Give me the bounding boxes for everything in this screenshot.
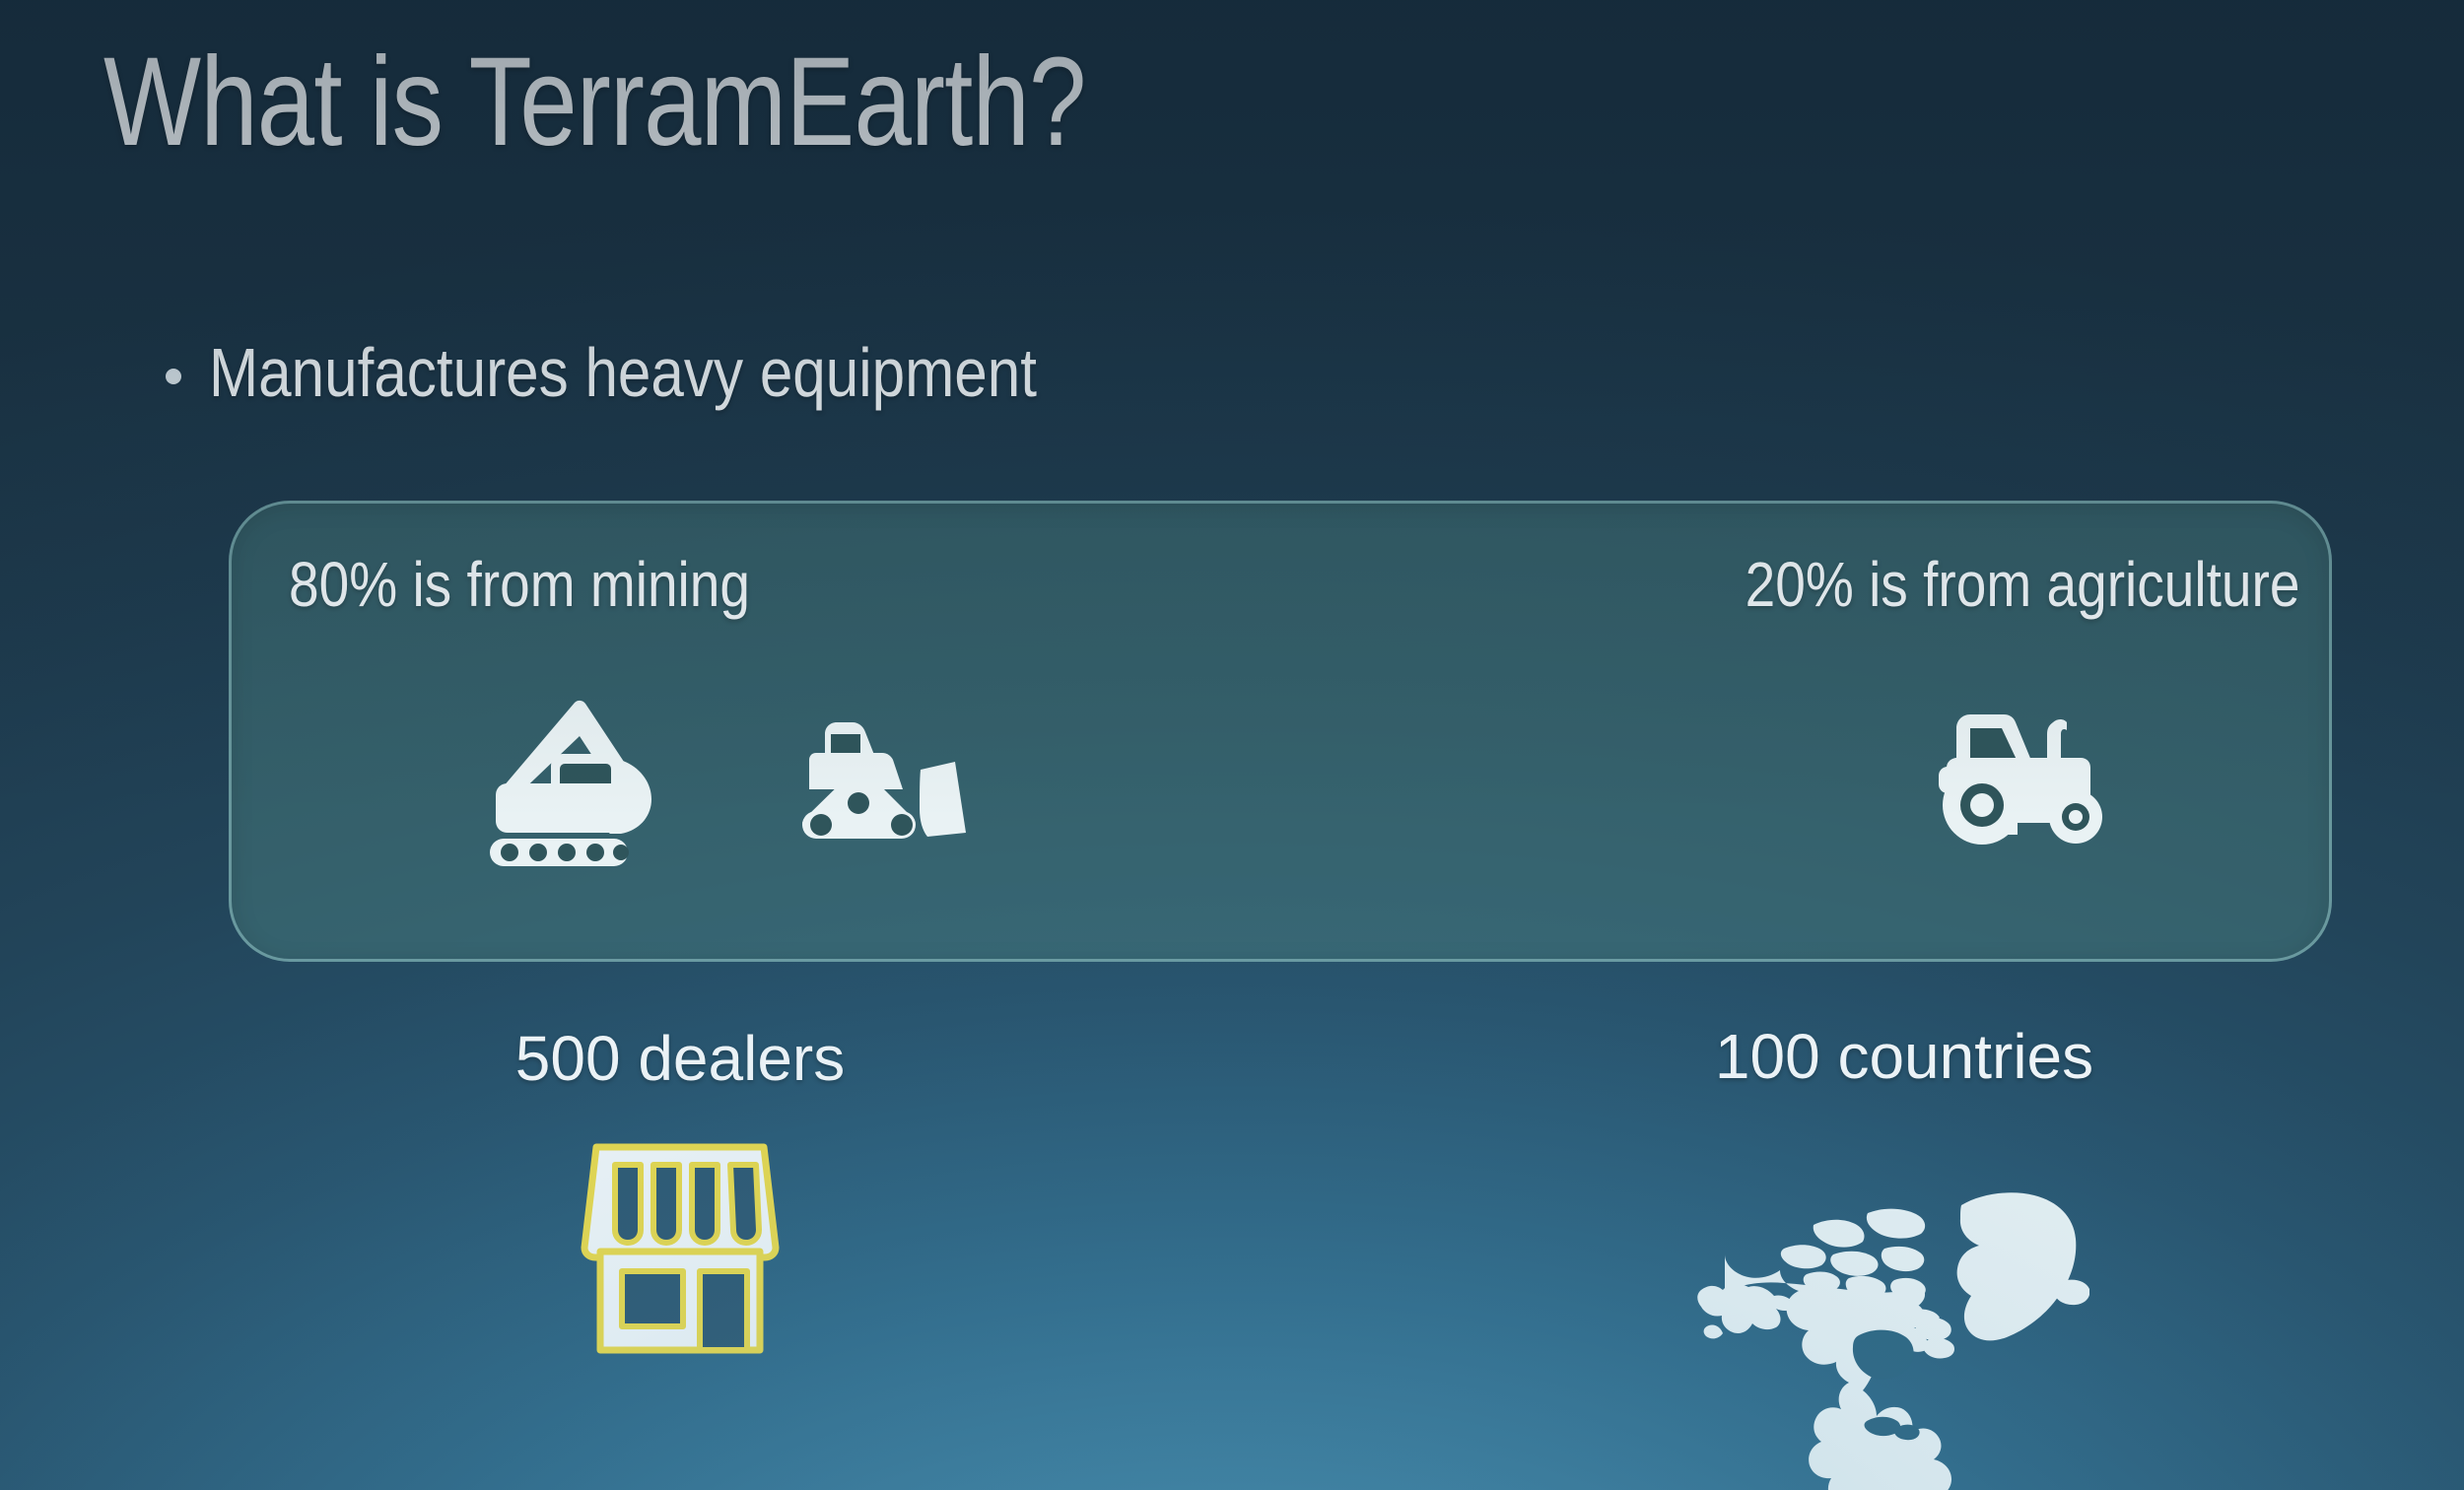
panel-column-mining: 80% is from mining (232, 504, 1395, 959)
bullet-dot-icon (166, 369, 181, 384)
excavator-icon (478, 697, 675, 866)
highlight-panel: 80% is from mining (229, 501, 2332, 962)
bulldozer-icon (791, 712, 979, 850)
storefront-icon (579, 1131, 782, 1356)
tractor-icon (1935, 697, 2132, 854)
agriculture-share-label: 20% is from agriculture (1745, 553, 2299, 616)
countries-count-label: 100 countries (1668, 1025, 2141, 1088)
world-map-icon (1666, 1146, 2089, 1490)
page-title: What is TerramEarth? (103, 28, 1086, 176)
agriculture-icon-group (1935, 697, 2132, 854)
stat-countries: 100 countries (1668, 1025, 2141, 1088)
slide-canvas: What is TerramEarth? Manufactures heavy … (0, 0, 2464, 1490)
mining-icon-group (478, 697, 979, 866)
dealers-icon-wrap (483, 1131, 877, 1356)
mining-share-label: 80% is from mining (289, 553, 750, 616)
bullet-item-label: Manufactures heavy equipment (209, 335, 1037, 411)
bullet-list-item: Manufactures heavy equipment (166, 335, 1172, 411)
dealers-count-label: 500 dealers (483, 1027, 877, 1090)
stat-dealers: 500 dealers (483, 1027, 877, 1356)
panel-column-agriculture: 20% is from agriculture (1442, 504, 2329, 959)
